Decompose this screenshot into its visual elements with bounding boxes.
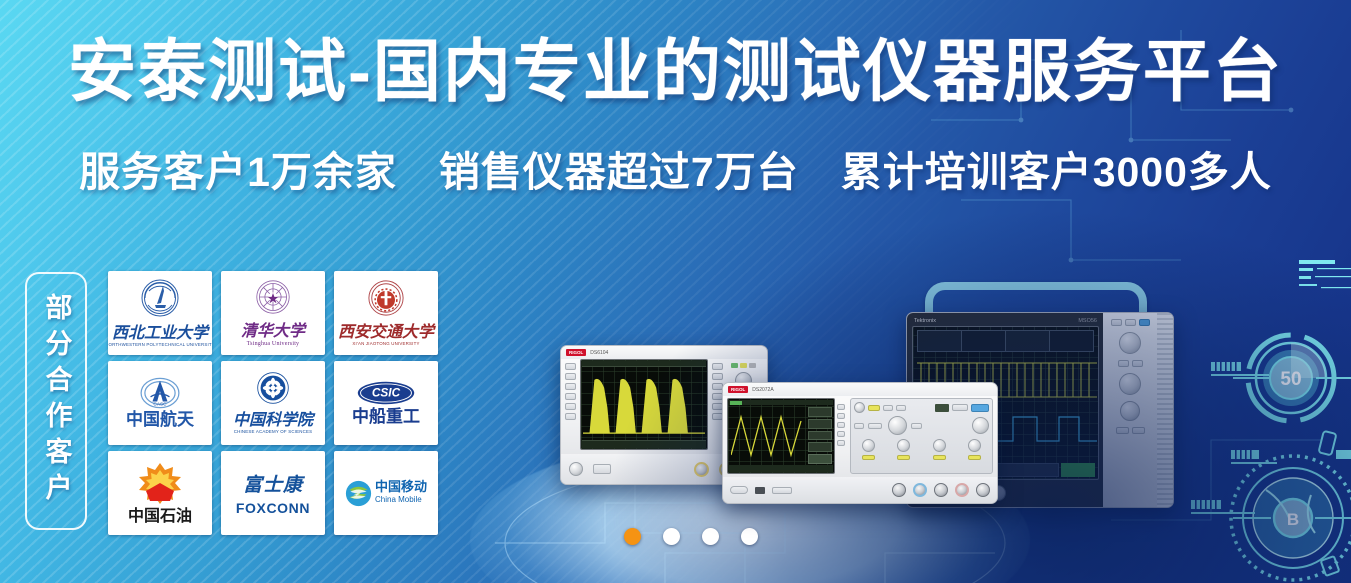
list-item-sublabel: XI'AN JIAOTONG UNIVERSITY <box>352 342 419 347</box>
list-item-label: 西安交通大学 <box>338 318 434 342</box>
cas-emblem-icon <box>256 371 290 405</box>
tek-brand-label: Tektronix <box>914 318 936 324</box>
list-item[interactable]: 西北工业大学 NORTHWESTERN POLYTECHNICAL UNIVER… <box>108 271 212 355</box>
list-item[interactable]: 中国科学院 CHINESE ACADEMY OF SCIENCES <box>221 361 325 445</box>
list-item-label: 中国航天 <box>126 412 194 430</box>
rigol-front-model-label: DS2072A <box>752 387 773 393</box>
xjtu-emblem-icon <box>367 279 405 317</box>
hero-banner: 安泰测试-国内专业的测试仪器服务平台 服务客户1万余家 销售仪器超过7万台 累计… <box>0 0 1351 583</box>
partners-vertical-label-text: 部分合作客户 <box>43 293 70 509</box>
rigol-front-brand-label: RIGOL <box>728 386 748 393</box>
list-item-label: 中国科学院 <box>233 406 313 430</box>
carousel-dot-3[interactable] <box>702 528 719 545</box>
list-item[interactable]: 富士康 FOXCONN <box>221 451 325 535</box>
list-item-label: 富士康 <box>243 470 303 497</box>
tek-model-label: MSO56 <box>1078 318 1097 324</box>
list-item[interactable]: 中国石油 <box>108 451 212 535</box>
partners-vertical-label: 部分合作客户 <box>25 272 87 530</box>
rigol-front-screen <box>727 398 835 474</box>
rigol-rear-brand-label: RIGOL <box>566 349 586 356</box>
chinamobile-emblem-icon <box>345 480 372 507</box>
svg-text:CSIC: CSIC <box>372 385 401 399</box>
carousel-dot-1[interactable] <box>624 528 641 545</box>
tek-knob-2[interactable] <box>1119 373 1141 395</box>
banner-title: 安泰测试-国内专业的测试仪器服务平台 <box>0 38 1351 106</box>
rigol-scope-front[interactable]: RIGOL DS2072A <box>722 382 998 504</box>
list-item-sublabel: China Mobile <box>375 495 427 505</box>
list-item[interactable]: 西安交通大学 XI'AN JIAOTONG UNIVERSITY <box>334 271 438 355</box>
svg-text:CASC: CASC <box>153 401 167 407</box>
list-item-label: 清华大学 <box>241 317 305 341</box>
list-item[interactable]: CSIC 中船重工 <box>334 361 438 445</box>
banner-subtitle: 服务客户1万余家 销售仪器超过7万台 累计培训客户3000多人 <box>0 152 1351 193</box>
csic-emblem-icon: CSIC <box>356 380 416 406</box>
casc-emblem-icon: CASC <box>139 376 181 410</box>
partner-logo-grid: 西北工业大学 NORTHWESTERN POLYTECHNICAL UNIVER… <box>108 271 438 535</box>
list-item-label: 中国移动 <box>375 481 427 495</box>
list-item[interactable]: 中国移动 China Mobile <box>334 451 438 535</box>
carousel-dots[interactable] <box>624 528 758 545</box>
carousel-dot-2[interactable] <box>663 528 680 545</box>
tek-knob-1[interactable] <box>1119 332 1141 354</box>
rigol-rear-screen <box>580 359 708 450</box>
list-item-sublabel: CHINESE ACADEMY OF SCIENCES <box>234 430 313 435</box>
list-item-sublabel: NORTHWESTERN POLYTECHNICAL UNIVERSITY <box>108 343 212 348</box>
foxconn-wordmark-icon: FOXCONN <box>236 500 310 516</box>
tsinghua-emblem-icon <box>255 279 291 315</box>
list-item[interactable]: 清华大学 Tsinghua University <box>221 271 325 355</box>
list-item-label: 中船重工 <box>352 409 420 427</box>
carousel-dot-4[interactable] <box>741 528 758 545</box>
list-item-label: 西北工业大学 <box>112 319 208 343</box>
tek-knob-3[interactable] <box>1120 401 1140 421</box>
npu-emblem-icon <box>140 278 180 318</box>
list-item-label: 中国石油 <box>128 508 192 525</box>
list-item[interactable]: CASC 中国航天 <box>108 361 212 445</box>
petrochina-emblem-icon <box>134 461 186 509</box>
rigol-rear-model-label: DS6104 <box>590 350 608 356</box>
list-item-sublabel: Tsinghua University <box>247 341 300 348</box>
